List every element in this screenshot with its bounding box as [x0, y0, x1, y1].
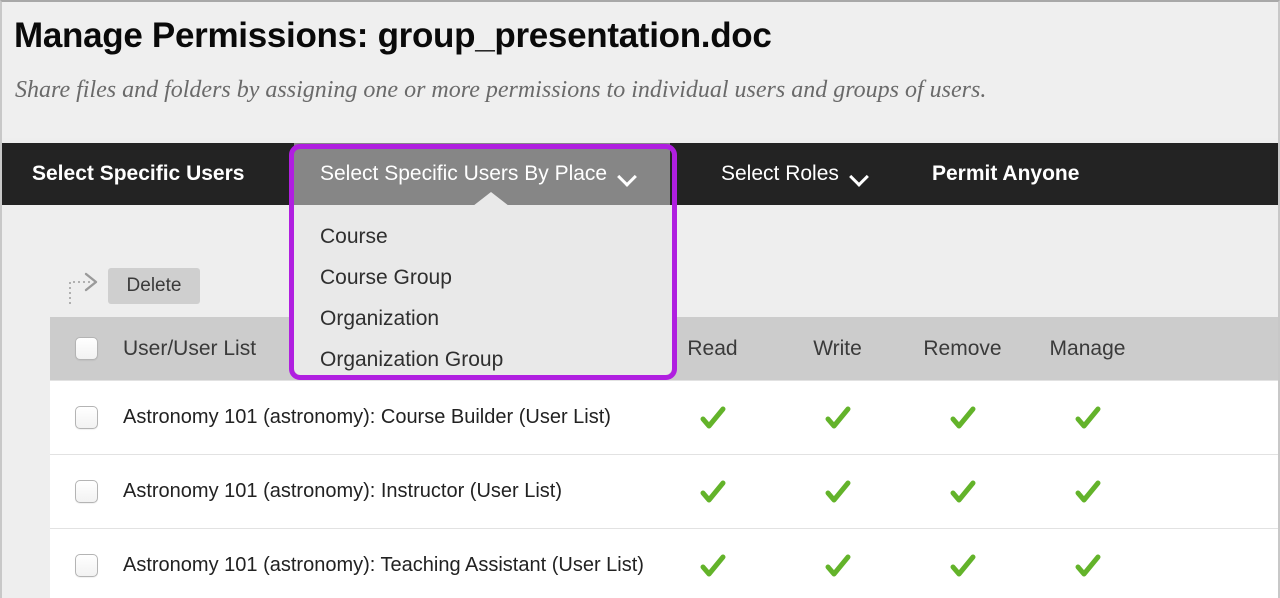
- table-row: Astronomy 101 (astronomy): Instructor (U…: [50, 454, 1278, 528]
- row-user-name: Astronomy 101 (astronomy): Instructor (U…: [122, 480, 650, 503]
- permission-remove-check[interactable]: [900, 552, 1025, 580]
- column-header-write[interactable]: Write: [775, 337, 900, 361]
- chevron-down-icon: [851, 170, 868, 180]
- nav-label-select-specific-users: Select Specific Users: [32, 162, 244, 186]
- menu-item-organization[interactable]: Organization: [294, 298, 672, 339]
- permission-column-headers: Read Write Remove Manage: [650, 337, 1278, 361]
- nav-item-select-specific-users[interactable]: Select Specific Users: [32, 143, 244, 205]
- page-header: Manage Permissions: group_presentation.d…: [2, 2, 1278, 138]
- permissions-navbar: Select Specific Users Select Roles Permi…: [2, 143, 1278, 205]
- row-checkbox[interactable]: [75, 554, 98, 577]
- nav-label-permit-anyone: Permit Anyone: [932, 162, 1079, 186]
- permission-manage-check[interactable]: [1025, 552, 1150, 580]
- menu-item-organization-group[interactable]: Organization Group: [294, 339, 672, 380]
- page-title: Manage Permissions: group_presentation.d…: [14, 16, 772, 56]
- permission-remove-check[interactable]: [900, 478, 1025, 506]
- permission-manage-check[interactable]: [1025, 478, 1150, 506]
- menu-item-course[interactable]: Course: [294, 216, 672, 257]
- dotted-arrow-right-icon: [66, 266, 102, 306]
- nav-item-select-roles[interactable]: Select Roles: [721, 143, 868, 205]
- permission-read-check[interactable]: [650, 552, 775, 580]
- select-all-checkbox[interactable]: [75, 337, 98, 360]
- select-all-cell: [50, 337, 122, 360]
- manage-permissions-page: Manage Permissions: group_presentation.d…: [0, 0, 1280, 598]
- nav-label-select-roles: Select Roles: [721, 162, 839, 186]
- permission-manage-check[interactable]: [1025, 404, 1150, 432]
- row-user-name: Astronomy 101 (astronomy): Course Builde…: [122, 406, 650, 429]
- row-select-cell: [50, 554, 122, 577]
- chevron-down-icon: [619, 170, 636, 180]
- nav-item-permit-anyone[interactable]: Permit Anyone: [932, 143, 1079, 205]
- nav-label-select-specific-users-by-place: Select Specific Users By Place: [320, 162, 607, 186]
- column-header-manage[interactable]: Manage: [1025, 337, 1150, 361]
- permission-write-check[interactable]: [775, 552, 900, 580]
- column-header-remove[interactable]: Remove: [900, 337, 1025, 361]
- row-permissions: [650, 404, 1278, 432]
- table-row: Astronomy 101 (astronomy): Course Builde…: [50, 380, 1278, 454]
- permission-read-check[interactable]: [650, 404, 775, 432]
- row-permissions: [650, 478, 1278, 506]
- row-user-name: Astronomy 101 (astronomy): Teaching Assi…: [122, 554, 650, 577]
- row-checkbox[interactable]: [75, 406, 98, 429]
- delete-button[interactable]: Delete: [108, 268, 200, 304]
- select-by-place-dropdown-menu: Course Course Group Organization Organiz…: [294, 205, 672, 375]
- table-row: Astronomy 101 (astronomy): Teaching Assi…: [50, 528, 1278, 598]
- permission-remove-check[interactable]: [900, 404, 1025, 432]
- row-select-cell: [50, 480, 122, 503]
- permission-read-check[interactable]: [650, 478, 775, 506]
- permission-write-check[interactable]: [775, 404, 900, 432]
- dropdown-caret-icon: [473, 192, 509, 206]
- permission-write-check[interactable]: [775, 478, 900, 506]
- row-select-cell: [50, 406, 122, 429]
- menu-item-course-group[interactable]: Course Group: [294, 257, 672, 298]
- row-permissions: [650, 552, 1278, 580]
- page-subtitle: Share files and folders by assigning one…: [15, 77, 986, 104]
- row-checkbox[interactable]: [75, 480, 98, 503]
- delete-button-label: Delete: [127, 275, 182, 297]
